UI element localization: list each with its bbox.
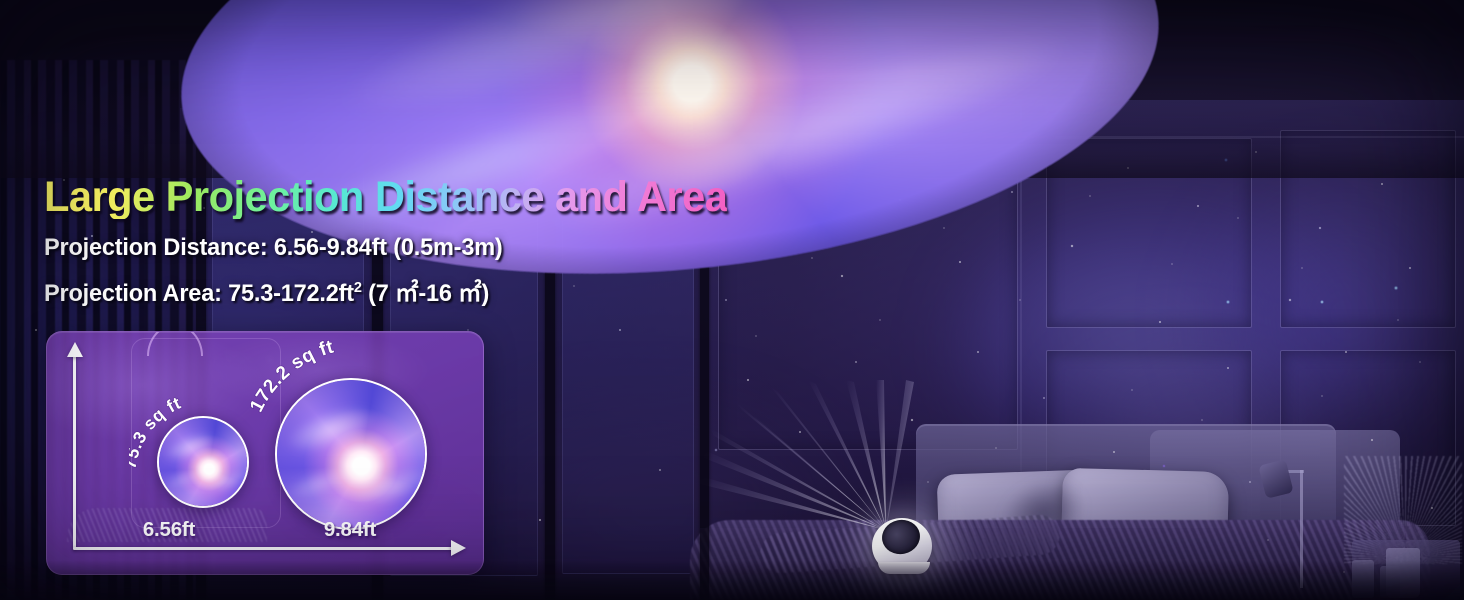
headline-block: Large Projection Distance and Area Proje… [44, 176, 748, 311]
projection-size-diagram: 75.3 sq ft 172.2 sq ft 6.56ft 9.84ft [46, 331, 484, 575]
decor-vase [1380, 566, 1400, 598]
large-projection-circle [275, 378, 427, 530]
large-distance-label: 9.84ft [289, 518, 411, 542]
small-projection-circle [157, 416, 249, 508]
projection-area-text: Projection Area: 75.3-172.2ft2 (7 ㎡-16 ㎡… [44, 277, 720, 311]
x-axis-line [73, 547, 455, 550]
projection-area-prefix: Projection Area: 75.3-172.2ft [44, 280, 354, 307]
reading-lamp-stand [1300, 470, 1303, 588]
small-distance-label: 6.56ft [123, 518, 215, 542]
decor-vase [1352, 560, 1374, 598]
projection-distance-text: Projection Distance: 6.56-9.84ft (0.5m-3… [44, 231, 720, 265]
page-title: Large Projection Distance and Area [44, 176, 727, 219]
product-feature-banner: Large Projection Distance and Area Proje… [0, 0, 1464, 600]
panel-arc-decoration [147, 331, 203, 356]
wall-panel-moulding [1280, 130, 1456, 328]
y-axis-arrow-icon [67, 342, 83, 357]
projection-area-superscript: 2 [354, 279, 362, 296]
x-axis-arrow-icon [451, 540, 466, 556]
projection-area-suffix: (7 ㎡-16 ㎡) [362, 280, 489, 307]
galaxy-spiral-arms [275, 378, 427, 530]
y-axis-line [73, 354, 76, 550]
projector-base [878, 562, 930, 574]
galaxy-spiral-arms [157, 416, 249, 508]
